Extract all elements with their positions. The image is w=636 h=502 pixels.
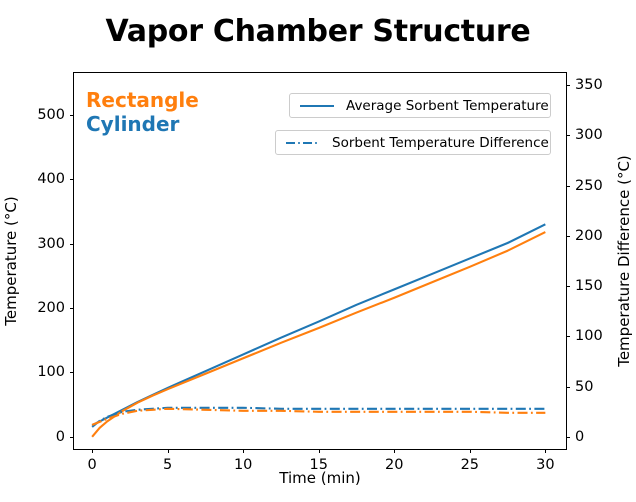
y-axis-left-tick-label: 300 xyxy=(37,236,65,252)
y-axis-right-tick xyxy=(566,236,570,237)
y-axis-right-tick xyxy=(566,336,570,337)
x-axis-tick-label: 20 xyxy=(385,457,403,473)
x-axis-tick xyxy=(545,449,546,453)
x-axis-tick-label: 10 xyxy=(234,457,252,473)
annotation-cylinder: Cylinder xyxy=(86,112,179,136)
y-axis-right-tick xyxy=(566,135,570,136)
series-line xyxy=(92,409,545,425)
chart-figure: Vapor Chamber Structure 0100200300400500… xyxy=(0,0,636,502)
y-axis-right-tick xyxy=(566,286,570,287)
x-axis-tick-label: 25 xyxy=(461,457,479,473)
y-axis-right-tick xyxy=(566,387,570,388)
x-axis-tick-label: 5 xyxy=(163,457,172,473)
y-axis-left-tick xyxy=(70,244,74,245)
x-axis-tick xyxy=(243,449,244,453)
y-axis-right-tick-label: 50 xyxy=(575,379,593,395)
x-axis-tick xyxy=(470,449,471,453)
y-axis-right-tick-label: 350 xyxy=(575,77,603,93)
y-axis-left-tick-label: 200 xyxy=(37,300,65,316)
chart-title: Vapor Chamber Structure xyxy=(0,14,636,49)
y-axis-right-tick-label: 0 xyxy=(575,429,584,445)
y-axis-left-tick-label: 400 xyxy=(37,171,65,187)
y-axis-right-tick xyxy=(566,186,570,187)
x-axis-tick xyxy=(168,449,169,453)
x-axis-tick xyxy=(394,449,395,453)
legend-sorbent-temperature-difference[interactable]: Sorbent Temperature Difference xyxy=(275,130,551,155)
series-line xyxy=(92,232,545,437)
legend-label: Sorbent Temperature Difference xyxy=(332,135,549,151)
x-axis-title: Time (min) xyxy=(279,469,360,487)
y-axis-right-tick-label: 200 xyxy=(575,228,603,244)
series-line xyxy=(92,408,545,427)
x-axis-tick-label: 0 xyxy=(88,457,97,473)
legend-line-solid-icon xyxy=(299,99,335,113)
y-axis-left-tick xyxy=(70,179,74,180)
y-axis-right-tick-label: 150 xyxy=(575,278,603,294)
x-axis-tick xyxy=(319,449,320,453)
x-axis-tick xyxy=(92,449,93,453)
x-axis-tick-label: 30 xyxy=(536,457,554,473)
y-axis-left-tick xyxy=(70,308,74,309)
y-axis-left-tick xyxy=(70,437,74,438)
y-axis-left-tick xyxy=(70,115,74,116)
y-axis-left-tick-label: 500 xyxy=(37,107,65,123)
y-axis-left-tick-label: 0 xyxy=(56,429,65,445)
legend-line-dashdot-icon xyxy=(285,136,321,150)
y-axis-left-title: Temperature (°C) xyxy=(2,196,20,325)
legend-average-sorbent-temperature[interactable]: Average Sorbent Temperature xyxy=(289,93,551,118)
y-axis-left-tick-label: 100 xyxy=(37,364,65,380)
y-axis-right-tick-label: 300 xyxy=(575,127,603,143)
y-axis-right-tick-label: 250 xyxy=(575,178,603,194)
series-line xyxy=(92,224,545,425)
y-axis-right-tick xyxy=(566,437,570,438)
annotation-rectangle: Rectangle xyxy=(86,88,199,112)
legend-label: Average Sorbent Temperature xyxy=(346,98,549,114)
y-axis-right-title: Temperature Difference (°C) xyxy=(615,155,633,367)
y-axis-right-tick xyxy=(566,85,570,86)
y-axis-left-tick xyxy=(70,372,74,373)
y-axis-right-tick-label: 100 xyxy=(575,328,603,344)
